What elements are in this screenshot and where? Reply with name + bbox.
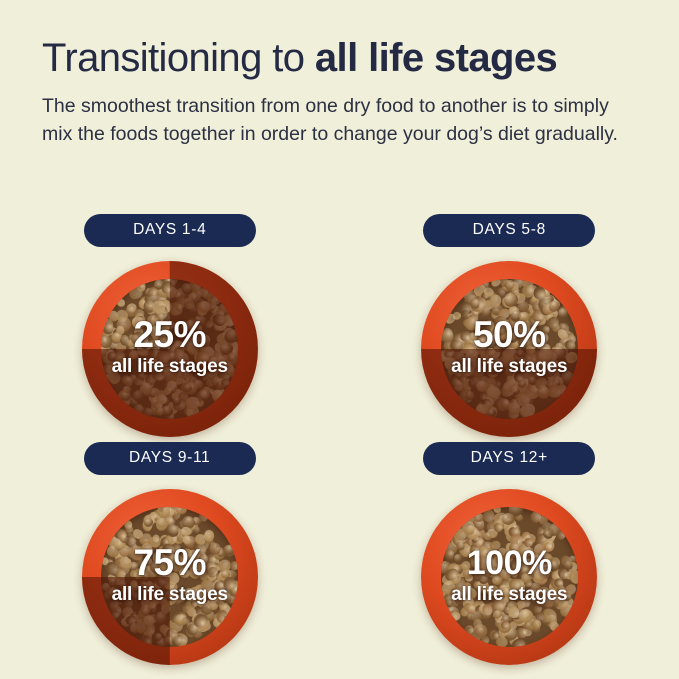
- bowl-rim: [82, 489, 258, 665]
- kibble-texture: [441, 279, 578, 420]
- step-card-3: DAYS 9-11 75% all life stages: [0, 442, 340, 670]
- bowl-rim: [421, 261, 597, 437]
- step-card-2: DAYS 5-8 50% all life stages: [340, 214, 679, 442]
- bowl-basin: [101, 279, 238, 420]
- kibble-texture: [441, 507, 578, 648]
- step-badge-days-5-8: DAYS 5-8: [423, 214, 595, 247]
- title-regular-part: Transitioning to: [42, 36, 315, 80]
- bowl-basin: [441, 279, 578, 420]
- step-badge-days-12-plus: DAYS 12+: [423, 442, 595, 475]
- step-badge-days-1-4: DAYS 1-4: [84, 214, 256, 247]
- page-subtitle: The smoothest transition from one dry fo…: [42, 92, 632, 148]
- bowl-rim: [421, 489, 597, 665]
- page-title: Transitioning to all life stages: [42, 34, 662, 82]
- bowl-rim: [82, 261, 258, 437]
- kibble-texture: [101, 279, 238, 420]
- bowl-75: 75% all life stages: [82, 489, 258, 665]
- bowl-basin: [101, 507, 238, 648]
- header: Transitioning to all life stages The smo…: [42, 34, 662, 148]
- step-card-1: DAYS 1-4 25% all life stages: [0, 214, 340, 442]
- step-card-4: DAYS 12+ 100% all life stages: [340, 442, 679, 670]
- bowl-basin: [441, 507, 578, 648]
- transition-steps-grid: DAYS 1-4 25% all life stages DAYS 5-8: [0, 214, 679, 670]
- step-badge-days-9-11: DAYS 9-11: [84, 442, 256, 475]
- kibble-texture: [101, 507, 238, 648]
- bowl-100: 100% all life stages: [421, 489, 597, 665]
- bowl-50: 50% all life stages: [421, 261, 597, 437]
- infographic-page: Transitioning to all life stages The smo…: [0, 0, 679, 679]
- title-strong-part: all life stages: [315, 36, 557, 80]
- bowl-25: 25% all life stages: [82, 261, 258, 437]
